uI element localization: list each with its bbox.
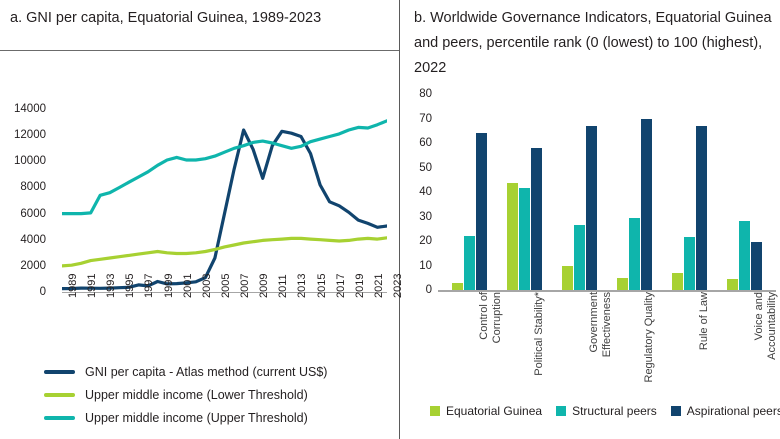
legend-line-swatch	[44, 416, 75, 420]
panel-a-title: a. GNI per capita, Equatorial Guinea, 19…	[10, 8, 390, 28]
x-tick-label-a: 2019	[354, 274, 366, 298]
legend-item[interactable]: GNI per capita - Atlas method (current U…	[44, 362, 394, 381]
bar-group	[672, 94, 707, 290]
x-category-label: Rule of Law	[698, 292, 711, 388]
x-category-label: Control of Corruption	[478, 292, 503, 388]
y-tick-label-b: 80	[400, 88, 432, 100]
bar	[476, 133, 487, 290]
x-tick-label-a: 1993	[105, 274, 117, 298]
x-category-label: Voice and Accountability	[753, 292, 778, 388]
y-tick-label-b: 0	[400, 284, 432, 296]
bar	[519, 188, 530, 290]
legend-line-swatch	[44, 393, 75, 397]
x-tick-label-a: 2007	[239, 274, 251, 298]
x-tick-label-a: 1991	[86, 274, 98, 298]
legend-item[interactable]: Aspirational peers	[671, 404, 780, 418]
legend-label: Structural peers	[572, 404, 657, 418]
legend-line-swatch	[44, 370, 75, 374]
y-tick-label-b: 50	[400, 162, 432, 174]
bar-chart-wgi: 01020304050607080 Control of CorruptionP…	[400, 88, 780, 303]
y-tick-label-b: 60	[400, 137, 432, 149]
y-tick-label-a: 14000	[0, 103, 46, 115]
bar	[629, 218, 640, 290]
bar	[531, 148, 542, 290]
legend-color-swatch	[556, 406, 566, 416]
y-tick-label-a: 6000	[0, 208, 46, 220]
legend-color-swatch	[430, 406, 440, 416]
legend-label: Equatorial Guinea	[446, 404, 542, 418]
bar	[507, 183, 518, 290]
x-tick-label-a: 1997	[143, 274, 155, 298]
bar	[641, 119, 652, 291]
bar-group	[562, 94, 597, 290]
bar-group	[452, 94, 487, 290]
x-tick-label-a: 2003	[201, 274, 213, 298]
legend-item[interactable]: Upper middle income (Upper Threshold)	[44, 408, 394, 427]
bar-group	[617, 94, 652, 290]
y-tick-label-b: 10	[400, 260, 432, 272]
legend-label: GNI per capita - Atlas method (current U…	[85, 365, 327, 379]
line-plot-area	[62, 96, 387, 292]
panel-a-title-rule	[0, 50, 399, 51]
panel-governance-indicators: b. Worldwide Governance Indicators, Equa…	[400, 0, 780, 439]
bar	[574, 225, 585, 290]
x-tick-label-a: 2017	[335, 274, 347, 298]
x-tick-label-a: 2021	[373, 274, 385, 298]
panel-b-title: b. Worldwide Governance Indicators, Equa…	[414, 6, 776, 81]
bar	[727, 279, 738, 290]
legend-item[interactable]: Equatorial Guinea	[430, 404, 542, 418]
x-category-label: Government Effectiveness	[588, 292, 613, 388]
bar	[684, 237, 695, 290]
legend-item[interactable]: Upper middle income (Lower Threshold)	[44, 385, 394, 404]
line-series	[62, 238, 387, 266]
y-tick-label-a: 8000	[0, 181, 46, 193]
x-tick-label-a: 2015	[316, 274, 328, 298]
bar	[672, 273, 683, 290]
bar	[617, 278, 628, 290]
y-tick-label-a: 10000	[0, 155, 46, 167]
bar	[696, 126, 707, 290]
legend-color-swatch	[671, 406, 681, 416]
y-tick-label-b: 70	[400, 113, 432, 125]
x-category-label: Regulatory Quality	[643, 292, 656, 388]
y-tick-label-b: 40	[400, 186, 432, 198]
y-tick-label-b: 30	[400, 211, 432, 223]
legend-label: Upper middle income (Upper Threshold)	[85, 411, 308, 425]
line-series	[62, 121, 387, 214]
y-tick-label-a: 2000	[0, 260, 46, 272]
legend-item[interactable]: Structural peers	[556, 404, 657, 418]
y-tick-label-a: 0	[0, 286, 46, 298]
x-tick-label-a: 2009	[258, 274, 270, 298]
bar-plot-area	[442, 94, 772, 290]
x-category-label: Political Stability*	[533, 292, 546, 388]
bar	[562, 266, 573, 291]
x-axis-labels-a: 1989199119931995199719992001200320052007…	[62, 298, 387, 360]
x-tick-label-a: 1995	[124, 274, 136, 298]
y-tick-label-a: 12000	[0, 129, 46, 141]
y-tick-label-b: 20	[400, 235, 432, 247]
x-tick-label-a: 2013	[296, 274, 308, 298]
x-tick-label-a: 2005	[220, 274, 232, 298]
figure-container: a. GNI per capita, Equatorial Guinea, 19…	[0, 0, 780, 439]
bar	[751, 242, 762, 290]
y-tick-label-a: 4000	[0, 234, 46, 246]
line-chart-gni: 02000400060008000100001200014000 1989199…	[0, 88, 399, 313]
legend-label: Aspirational peers	[687, 404, 780, 418]
bar-group	[507, 94, 542, 290]
bar-group	[727, 94, 762, 290]
x-axis-category-labels: Control of CorruptionPolitical Stability…	[442, 294, 772, 390]
legend-line-chart: GNI per capita - Atlas method (current U…	[44, 362, 394, 431]
bar	[452, 283, 463, 290]
legend-bar-chart: Equatorial GuineaStructural peersAspirat…	[430, 404, 780, 418]
x-tick-label-a: 1999	[163, 274, 175, 298]
x-tick-label-a: 2001	[182, 274, 194, 298]
x-tick-label-a: 2011	[277, 274, 289, 298]
bar	[464, 236, 475, 290]
panel-gni-per-capita: a. GNI per capita, Equatorial Guinea, 19…	[0, 0, 399, 439]
x-tick-label-a: 1989	[67, 274, 79, 298]
bar	[739, 221, 750, 290]
legend-label: Upper middle income (Lower Threshold)	[85, 388, 308, 402]
bar	[586, 126, 597, 290]
